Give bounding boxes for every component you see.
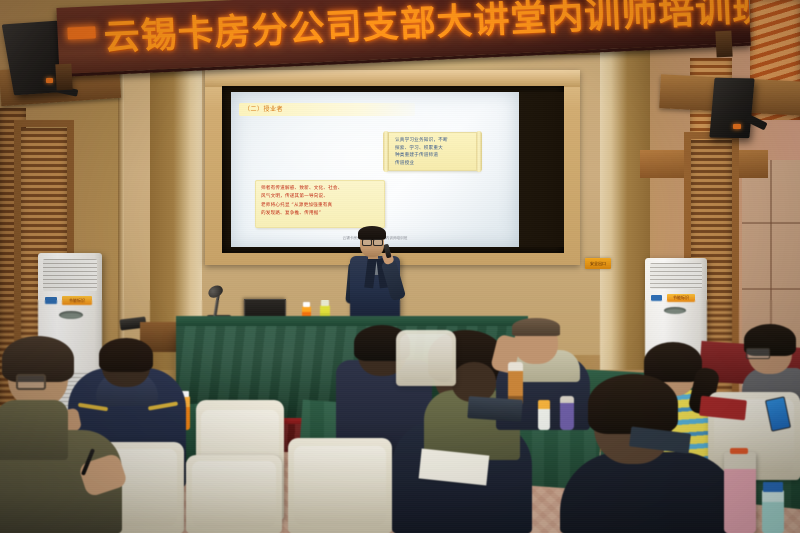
audience-hair-striped: [644, 342, 702, 382]
scroll-line: 探索、学习、积累重大: [395, 145, 471, 153]
slide-red-text-box: 师者有传道解惑、致新、文化、社会、 风气文明，传递其第一导向说、 老师将心托显 …: [255, 180, 385, 228]
speaker-led-right: [733, 124, 741, 129]
tablet-audience: [467, 396, 522, 422]
thermos-pink-marker: [730, 448, 748, 454]
audience-glasses-olive: [16, 374, 46, 390]
speaker-led-left: [46, 78, 53, 83]
ac-vent-right: [664, 307, 686, 314]
ac-energy-label-left: 节能标识: [62, 296, 92, 305]
pillar-right: [600, 40, 650, 370]
scroll-roller-left: [383, 131, 389, 172]
red-line: 老师将心托显 “从源更加强重有真: [256, 202, 384, 210]
red-line: 师者有传道解惑、致新、文化、社会、: [256, 181, 384, 193]
scroll-line: 认真学习业务知识，不断: [395, 137, 471, 145]
chair-back-center: [396, 330, 456, 386]
scroll-roller-right: [476, 131, 482, 172]
ac-grill-top-left: [43, 259, 97, 291]
thermos-pink-foreground: [724, 452, 756, 533]
screen-frame-top: [205, 70, 580, 87]
water-bottle-foreground-right: [762, 490, 784, 533]
stage-wall-edge-left: [118, 55, 124, 355]
ac-vent-left: [59, 311, 83, 319]
water-bottle-cap-foreground: [763, 482, 783, 492]
red-line: 风气文明，传递其第一导向说、: [256, 193, 384, 201]
slide-header-bar: （二）授业者: [239, 103, 415, 116]
scroll-line: 传道授业: [395, 160, 471, 168]
thermos-purple: [560, 396, 574, 430]
scroll-line: 种类重建于传道师道: [395, 152, 471, 160]
bottle-right-1: [538, 400, 550, 430]
audience-glasses-suit: [746, 348, 770, 359]
audience-shoulder-olive: [0, 400, 68, 460]
audience-hair-hoodie: [99, 338, 153, 372]
banner-bracket-left: [55, 64, 72, 91]
presenter-glasses-right-lens: [373, 239, 383, 246]
exit-sign-text: 安全出口: [585, 258, 611, 269]
wall-speaker-right: [709, 78, 754, 138]
projection-screen: （二）授业者 认真学习业务知识，不断 探索、学习、积累重大 种类重建于传道师道 …: [231, 92, 519, 247]
screen-shadow-edge: [519, 92, 564, 247]
red-line: 的发现路、复争推、传用据”: [256, 210, 384, 218]
presenter-hair: [358, 226, 386, 240]
slide-scroll-text: 认真学习业务知识，不断 探索、学习、积累重大 种类重建于传道师道 传道授业: [395, 137, 471, 167]
ac-energy-label-right: 节能标识: [667, 294, 695, 302]
yellow-bottle-cap: [321, 300, 329, 306]
orange-bottle-cap: [303, 302, 310, 307]
audience-person-front-right-body: [560, 452, 740, 533]
slide-header-text: （二）授业者: [239, 103, 415, 116]
chair-center: [288, 438, 392, 533]
banner-decoration-block: [67, 26, 96, 39]
audience-hair-front-right: [588, 374, 678, 434]
audience-hair-bald: [512, 318, 560, 336]
presenter-glasses-left-lens: [362, 239, 372, 246]
exit-sign: 安全出口: [585, 258, 611, 269]
slide-scroll-box: 认真学习业务知识，不断 探索、学习、积累重大 种类重建于传道师道 传道授业: [385, 132, 480, 171]
ac-grill-top-right: [650, 263, 702, 289]
ac-brand-badge-left: [45, 297, 57, 304]
conference-room-photo: （二）授业者 认真学习业务知识，不断 探索、学习、积累重大 种类重建于传道师道 …: [0, 0, 800, 533]
ac-brand-badge-right: [651, 295, 662, 301]
banner-bracket-right: [715, 31, 732, 58]
chair-foreground-left: [186, 455, 282, 533]
